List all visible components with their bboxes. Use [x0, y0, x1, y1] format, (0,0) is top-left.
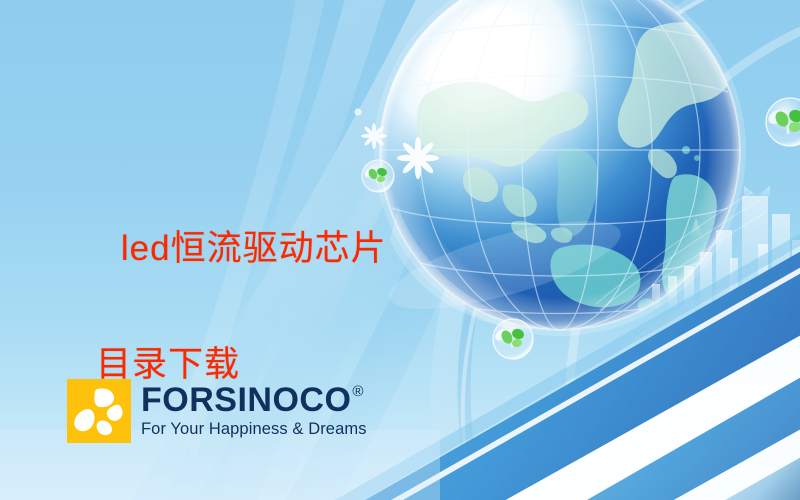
brand-tagline: For Your Happiness & Dreams	[141, 419, 367, 439]
flower-sparkle	[361, 123, 387, 149]
banner-canvas: led恒流驱动芯片 目录下载 FORSINOCO ® For Your Happ…	[0, 0, 800, 500]
forsinoco-pinwheel-icon	[67, 379, 131, 443]
bubble-with-sprout	[493, 319, 533, 359]
registered-trademark-icon: ®	[352, 383, 363, 400]
flower-sparkle	[397, 137, 439, 179]
brand-name: FORSINOCO	[141, 383, 351, 417]
logo-wordmark: FORSINOCO ® For Your Happiness & Dreams	[141, 383, 367, 439]
company-logo[interactable]: FORSINOCO ® For Your Happiness & Dreams	[67, 379, 367, 443]
bubble-with-sprout	[362, 160, 394, 192]
